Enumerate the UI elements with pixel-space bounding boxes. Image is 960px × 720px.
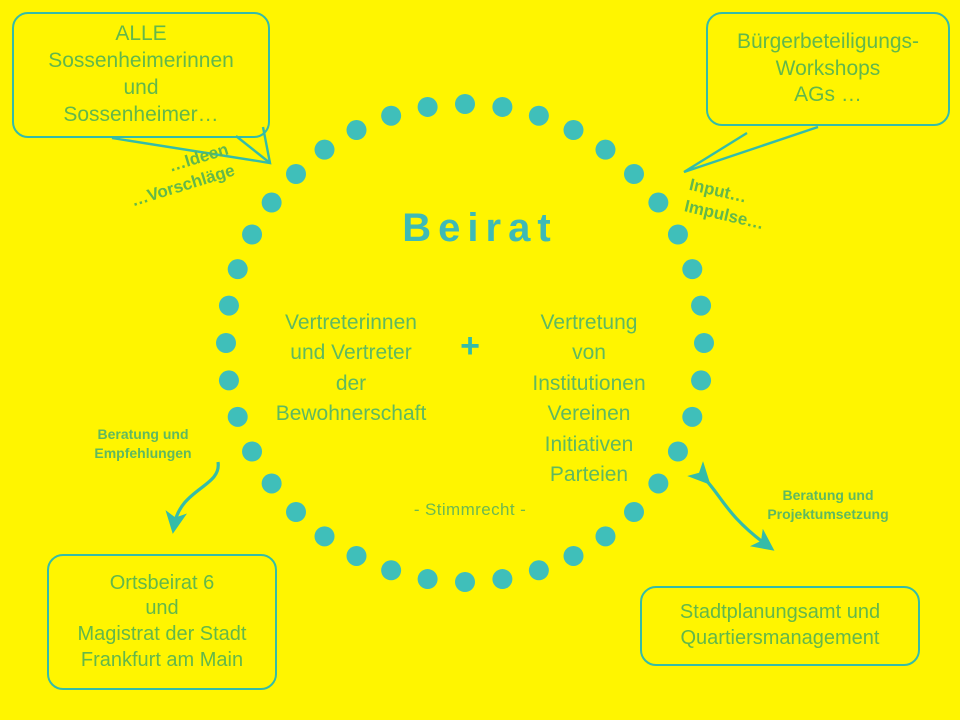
ring-dot [492, 97, 512, 117]
ring-dot [694, 333, 714, 353]
ring-dot [691, 370, 711, 390]
ring-dot [418, 97, 438, 117]
ring-dot [228, 407, 248, 427]
ring-dot [564, 546, 584, 566]
speech-bubble-residents[interactable]: ALLE Sossenheimerinnen und Sossenheimer… [12, 12, 270, 138]
tail-label-ideen-vorschlaege: …Ideen …Vorschläge [122, 139, 238, 213]
voting-rights-note: - Stimmrecht - [340, 500, 600, 520]
ring-dot [624, 502, 644, 522]
plus-icon: + [440, 327, 500, 366]
ring-dot [492, 569, 512, 589]
ring-dot [624, 164, 644, 184]
box-ortsbeirat-magistrat[interactable]: Ortsbeirat 6 und Magistrat der Stadt Fra… [47, 554, 277, 690]
ring-dot [595, 526, 615, 546]
ring-dot [286, 502, 306, 522]
ring-dot [219, 370, 239, 390]
ring-dot [595, 140, 615, 160]
arrow-label-beratung-empfehlungen: Beratung und Empfehlungen [68, 425, 218, 463]
ring-dot [242, 442, 262, 462]
ring-dot [691, 296, 711, 316]
bubble-tail-right [684, 127, 818, 172]
page-title: Beirat [0, 206, 960, 251]
arrow-label-beratung-projektumsetzung: Beratung und Projektumsetzung [738, 486, 918, 524]
ring-dot [347, 546, 367, 566]
ring-dot [529, 106, 549, 126]
ring-dot [347, 120, 367, 140]
ring-dot [216, 333, 236, 353]
ring-dot [529, 560, 549, 580]
ring-dot [315, 526, 335, 546]
ring-dot [381, 560, 401, 580]
ring-dot [228, 259, 248, 279]
ring-dot [418, 569, 438, 589]
ring-dot [564, 120, 584, 140]
ring-dot [682, 407, 702, 427]
ring-dot [262, 473, 282, 493]
ring-dot [219, 296, 239, 316]
ring-dot [682, 259, 702, 279]
ring-dot [286, 164, 306, 184]
box-stadtplanungsamt-quartiersmanagement[interactable]: Stadtplanungsamt und Quartiersmanagement [640, 586, 920, 666]
speech-bubble-participation-workshops[interactable]: Bürgerbeteiligungs- Workshops AGs … [706, 12, 950, 126]
center-column-residents: Vertreterinnen und Vertreter der Bewohne… [262, 308, 440, 430]
diagram-canvas: ALLE Sossenheimerinnen und Sossenheimer…… [0, 0, 960, 720]
ring-dot [381, 106, 401, 126]
bubble-tail-left-point [236, 136, 270, 163]
ring-dot [315, 140, 335, 160]
arrow-beratung-empfehlungen [174, 462, 218, 526]
ring-dot [455, 94, 475, 114]
center-column-institutions: Vertretung von Institutionen Vereinen In… [500, 308, 678, 491]
ring-dot [455, 572, 475, 592]
